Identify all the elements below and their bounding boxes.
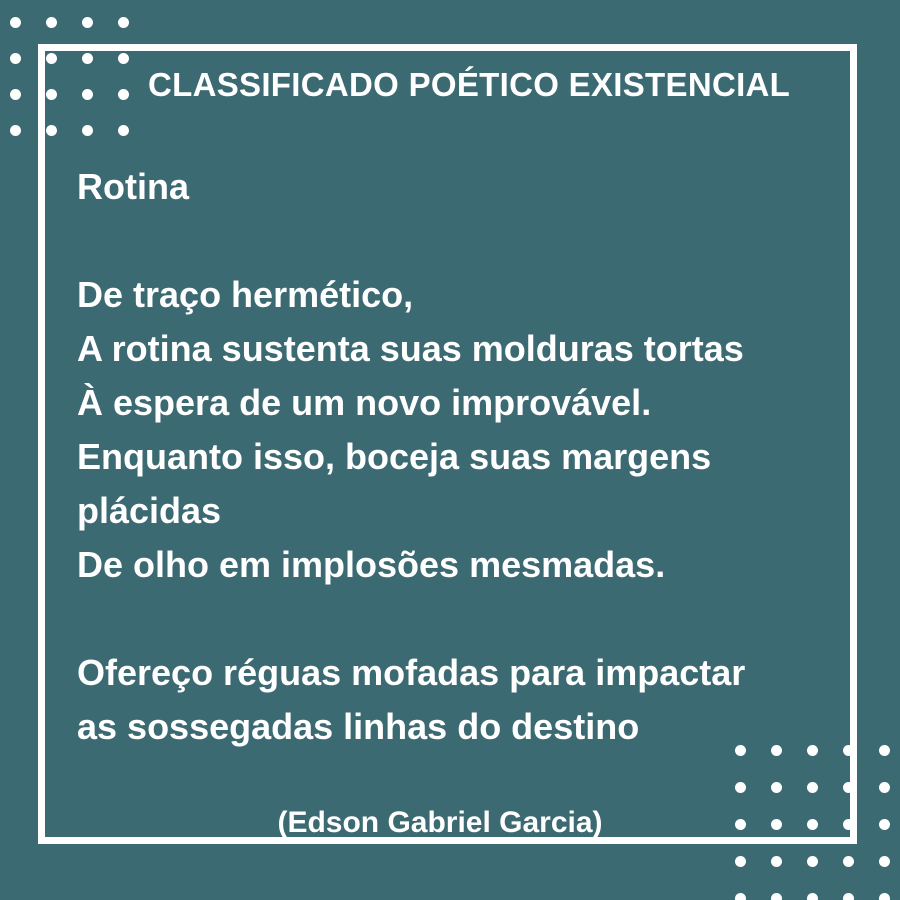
poem-line: De traço hermético,: [77, 268, 847, 322]
poem-line: A rotina sustenta suas molduras tortas: [77, 322, 847, 376]
poem-line: Ofereço réguas mofadas para impactar: [77, 646, 847, 700]
poster-content: CLASSIFICADO POÉTICO EXISTENCIAL Rotina …: [0, 0, 900, 900]
poem-line: À espera de um novo improvável.: [77, 376, 847, 430]
poem-poster: CLASSIFICADO POÉTICO EXISTENCIAL Rotina …: [0, 0, 900, 900]
poem-line: plácidas: [77, 484, 847, 538]
stanza-separator: [77, 592, 847, 646]
poem-line: Enquanto isso, boceja suas margens: [77, 430, 847, 484]
author-attribution: (Edson Gabriel Garcia): [0, 806, 900, 840]
poem-title: Rotina: [77, 160, 847, 214]
poem-line: as sossegadas linhas do destino: [77, 700, 847, 754]
poem-title-stanza: Rotina: [77, 160, 847, 214]
stanza-separator: [77, 214, 847, 268]
poem-line: De olho em implosões mesmadas.: [77, 538, 847, 592]
stanza-2: Ofereço réguas mofadas para impactar as …: [77, 646, 847, 754]
page-title: CLASSIFICADO POÉTICO EXISTENCIAL: [148, 66, 790, 104]
poem-body: Rotina De traço hermético, A rotina sust…: [77, 160, 847, 754]
stanza-1: De traço hermético, A rotina sustenta su…: [77, 268, 847, 592]
